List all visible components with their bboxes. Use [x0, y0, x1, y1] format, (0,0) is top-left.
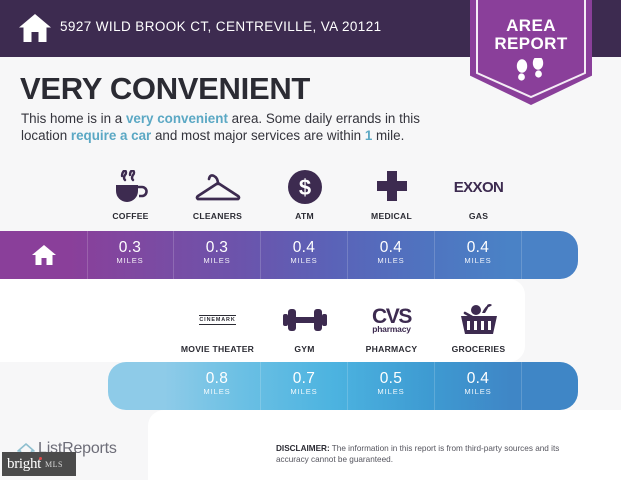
distance-cell-movie-theater: 0.8 MILES	[174, 362, 261, 410]
category-label: PHARMACY	[348, 344, 435, 354]
dollar-circle-icon: $	[261, 167, 348, 207]
home-icon	[0, 231, 88, 279]
badge-line-1: AREA	[470, 17, 592, 35]
distance-value: 0.4	[435, 239, 521, 256]
distance-unit: MILES	[348, 387, 434, 396]
distance-value: 0.7	[261, 370, 347, 387]
disclaimer-label: DISCLAIMER:	[276, 444, 330, 453]
cinemark-wordmark: CINEMARK	[199, 315, 235, 325]
category-groceries: GROCERIES	[435, 300, 522, 354]
distance-cell-coffee: 0.3 MILES	[87, 231, 174, 279]
grocery-basket-icon	[435, 300, 522, 340]
distance-cell-medical: 0.4 MILES	[348, 231, 435, 279]
category-atm: $ ATM	[261, 167, 348, 221]
desc-part-1: This home is in a	[21, 111, 126, 126]
distance-unit: MILES	[435, 387, 521, 396]
distance-cell-gym: 0.7 MILES	[261, 362, 348, 410]
category-label: GROCERIES	[435, 344, 522, 354]
cvs-wordmark: CVS pharmacy	[372, 306, 411, 334]
desc-part-4: mile.	[372, 128, 404, 143]
badge-title: AREA REPORT	[470, 17, 592, 53]
distance-unit: MILES	[348, 256, 434, 265]
distance-value: 0.3	[87, 239, 173, 256]
distance-unit: MILES	[87, 256, 173, 265]
desc-highlight-1: very convenient	[126, 111, 228, 126]
category-movie-theater: CINEMARK MOVIE THEATER	[174, 300, 261, 354]
category-medical: MEDICAL	[348, 167, 435, 221]
distance-unit: MILES	[174, 256, 260, 265]
category-gas: EXXON GAS	[435, 167, 522, 221]
cvs-pharmacy-logo: CVS pharmacy	[348, 300, 435, 340]
distance-bar-row-1: 0.3 MILES 0.3 MILES 0.4 MILES 0.4 MILES …	[0, 231, 578, 279]
category-pharmacy: CVS pharmacy PHARMACY	[348, 300, 435, 354]
distance-unit: MILES	[261, 387, 347, 396]
cvs-brand-sub: pharmacy	[372, 325, 411, 334]
distance-cell-groceries: 0.4 MILES	[435, 362, 522, 410]
brightmls-watermark: bright MLS	[2, 452, 76, 476]
category-gym: GYM	[261, 300, 348, 354]
category-label: MEDICAL	[348, 211, 435, 221]
badge-line-2: REPORT	[470, 35, 592, 53]
svg-text:$: $	[298, 175, 310, 200]
clothes-hanger-icon	[174, 167, 261, 207]
distance-unit: MILES	[174, 387, 260, 396]
distance-cell-gas: 0.4 MILES	[435, 231, 522, 279]
category-label: ATM	[261, 211, 348, 221]
category-label: MOVIE THEATER	[174, 344, 261, 354]
desc-part-3: and most major services are within	[151, 128, 365, 143]
distance-value: 0.5	[348, 370, 434, 387]
medical-cross-icon	[348, 167, 435, 207]
category-label: GYM	[261, 344, 348, 354]
area-report-infographic: 5927 WILD BROOK CT, CENTREVILLE, VA 2012…	[0, 0, 621, 480]
dumbbell-icon	[261, 300, 348, 340]
category-coffee: COFFEE	[87, 167, 174, 221]
category-label: GAS	[435, 211, 522, 221]
page-title: VERY CONVENIENT	[20, 71, 310, 107]
category-label: CLEANERS	[174, 211, 261, 221]
distance-cell-pharmacy: 0.5 MILES	[348, 362, 435, 410]
distance-unit: MILES	[261, 256, 347, 265]
watermark-brand-text: bright	[7, 456, 41, 472]
coffee-cup-icon	[87, 167, 174, 207]
watermark-dot	[39, 457, 42, 460]
distance-value: 0.4	[435, 370, 521, 387]
property-address: 5927 WILD BROOK CT, CENTREVILLE, VA 2012…	[60, 19, 382, 34]
distance-bar-row-2: 0.8 MILES 0.7 MILES 0.5 MILES 0.4 MILES	[108, 362, 578, 410]
watermark-suffix: MLS	[45, 460, 63, 469]
desc-highlight-2: require a car	[71, 128, 151, 143]
exxon-logo: EXXON	[435, 167, 522, 207]
category-label: COFFEE	[87, 211, 174, 221]
exxon-wordmark: EXXON	[454, 179, 504, 196]
category-cleaners: CLEANERS	[174, 167, 261, 221]
distance-value: 0.4	[261, 239, 347, 256]
cinemark-logo: CINEMARK	[174, 300, 261, 340]
distance-unit: MILES	[435, 256, 521, 265]
home-icon	[18, 12, 52, 44]
distance-cell-cleaners: 0.3 MILES	[174, 231, 261, 279]
footprints-icon	[470, 58, 592, 89]
distance-cell-atm: 0.4 MILES	[261, 231, 348, 279]
watermark-brand: bright	[7, 456, 41, 473]
distance-value: 0.4	[348, 239, 434, 256]
distance-value: 0.3	[174, 239, 260, 256]
distance-value: 0.8	[174, 370, 260, 387]
disclaimer: DISCLAIMER: The information in this repo…	[276, 444, 576, 465]
description-text: This home is in a very convenient area. …	[21, 111, 451, 144]
